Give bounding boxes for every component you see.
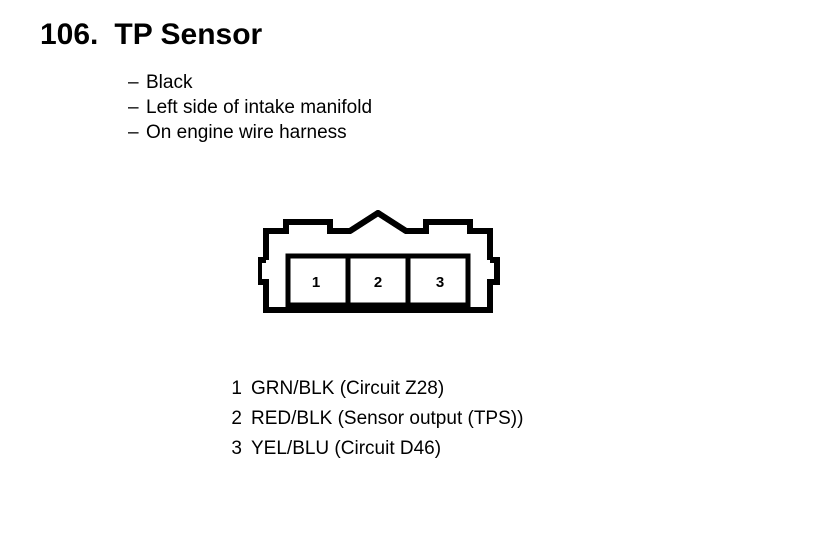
legend-pin-number: 1 <box>220 374 242 404</box>
legend-pin-label: YEL/BLU (Circuit D46) <box>251 434 441 464</box>
description-list: –Black –Left side of intake manifold –On… <box>128 70 372 145</box>
pin-number-3: 3 <box>436 274 444 291</box>
legend-row: 2 RED/BLK (Sensor output (TPS)) <box>220 404 523 434</box>
title-text: TP Sensor <box>114 18 262 52</box>
pin-number-1: 1 <box>312 274 320 291</box>
legend-row: 1 GRN/BLK (Circuit Z28) <box>220 374 523 404</box>
title-number: 106. <box>40 18 98 52</box>
connector-outline-icon: 1 2 3 <box>258 210 502 320</box>
legend-row: 3 YEL/BLU (Circuit D46) <box>220 434 523 464</box>
legend-pin-number: 3 <box>220 434 242 464</box>
list-item-label: On engine wire harness <box>146 122 347 143</box>
list-item-label: Left side of intake manifold <box>146 97 372 118</box>
dash-icon: – <box>128 120 146 145</box>
diagram-page: 106. TP Sensor –Black –Left side of inta… <box>0 0 832 560</box>
list-item-label: Black <box>146 72 192 93</box>
dash-icon: – <box>128 95 146 120</box>
pin-legend: 1 GRN/BLK (Circuit Z28) 2 RED/BLK (Senso… <box>220 374 523 464</box>
pin-number-2: 2 <box>374 274 382 291</box>
legend-pin-number: 2 <box>220 404 242 434</box>
dash-icon: – <box>128 70 146 95</box>
list-item: –Left side of intake manifold <box>128 95 372 120</box>
page-title: 106. TP Sensor <box>40 18 262 52</box>
list-item: –Black <box>128 70 372 95</box>
list-item: –On engine wire harness <box>128 120 372 145</box>
legend-pin-label: GRN/BLK (Circuit Z28) <box>251 374 444 404</box>
connector-diagram: 1 2 3 <box>258 210 502 320</box>
legend-pin-label: RED/BLK (Sensor output (TPS)) <box>251 404 523 434</box>
